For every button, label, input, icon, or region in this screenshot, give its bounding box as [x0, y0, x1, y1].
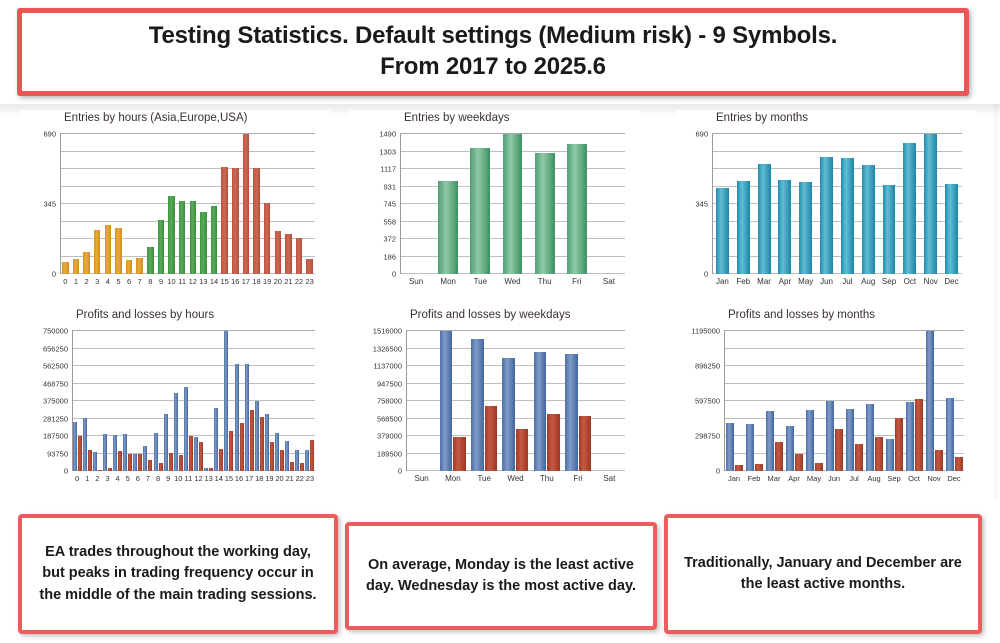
x-tick-label: Thu: [529, 277, 561, 286]
bar-group: [500, 331, 531, 471]
bar-group: [113, 331, 123, 471]
x-axis-labels: SunMonTueWedThuFriSat: [406, 474, 625, 483]
x-tick-label: May: [795, 277, 816, 286]
bar-profit: [806, 410, 814, 471]
bar: [296, 238, 303, 274]
x-tick-label: 2: [81, 277, 92, 286]
bar-group: [858, 134, 879, 274]
bar-loss: [915, 399, 923, 471]
bars: [72, 331, 315, 471]
bar: [73, 259, 80, 274]
bar-group: [562, 331, 593, 471]
x-tick-label: 10: [166, 277, 177, 286]
bar-loss: [199, 442, 203, 471]
bar-group: [194, 331, 204, 471]
bar: [438, 181, 458, 274]
bar-group: [764, 331, 784, 471]
bar-group: [124, 134, 135, 274]
y-tick-label: 750000: [43, 327, 68, 336]
x-tick-label: Jul: [837, 277, 858, 286]
bar-profit: [113, 435, 117, 471]
bar: [820, 157, 833, 274]
x-tick-label: 13: [204, 474, 214, 483]
chart-entries-by-hours: Entries by hours (Asia,Europe,USA)034569…: [20, 110, 330, 300]
y-tick-label: 558: [383, 217, 396, 226]
bar: [862, 165, 875, 274]
bar-group: [81, 134, 92, 274]
chart-entries-by-months: Entries by months0345690JanFebMarAprMayJ…: [676, 110, 976, 300]
y-tick-label: 597500: [695, 397, 720, 406]
y-tick-label: 93750: [47, 449, 68, 458]
x-tick-label: Nov: [920, 277, 941, 286]
bars: [400, 134, 625, 274]
x-tick-label: 20: [273, 277, 284, 286]
bar-profit: [534, 352, 547, 471]
bar-loss: [300, 463, 304, 471]
y-tick-label: 947500: [377, 379, 402, 388]
callout-box-months: Traditionally, January and December are …: [664, 514, 982, 634]
bar-profit: [265, 414, 269, 471]
x-tick-label: 17: [244, 474, 254, 483]
bar-loss: [280, 450, 284, 471]
x-tick-label: 16: [234, 474, 244, 483]
bar-group: [72, 331, 82, 471]
bar: [924, 134, 937, 274]
bar-profit: [906, 402, 914, 471]
bar-loss: [118, 451, 122, 471]
bar-profit: [565, 354, 578, 471]
bar-group: [71, 134, 82, 274]
bar-loss: [290, 462, 294, 471]
bar-profit: [194, 437, 198, 471]
x-tick-label: 10: [173, 474, 183, 483]
y-tick-label: 1490: [379, 130, 396, 139]
bar-profit: [245, 364, 249, 471]
bar: [275, 231, 282, 274]
plot-area: [724, 331, 964, 471]
chart-profits-losses-by-weekdays: Profits and losses by weekdays0189500379…: [350, 307, 640, 497]
x-tick-label: Dec: [944, 474, 964, 483]
bar: [190, 201, 197, 274]
x-tick-label: Feb: [733, 277, 754, 286]
x-tick-label: 22: [295, 474, 305, 483]
y-axis-line: [72, 331, 73, 471]
y-axis-labels: 02987505975008962501195000: [664, 331, 720, 471]
bar-loss: [485, 406, 498, 471]
bar: [115, 228, 122, 274]
x-tick-label: Oct: [899, 277, 920, 286]
bar-loss: [98, 470, 102, 471]
bar-group: [924, 331, 944, 471]
y-tick-label: 1137000: [373, 362, 402, 371]
bar-profit: [746, 424, 754, 471]
x-tick-label: 20: [275, 474, 285, 483]
x-tick-label: Apr: [784, 474, 804, 483]
x-tick-label: 18: [251, 277, 262, 286]
bar-group: [464, 134, 496, 274]
bar-loss: [260, 417, 264, 471]
x-tick-label: Mon: [437, 474, 468, 483]
bar-loss: [875, 437, 883, 471]
bar-profit: [133, 454, 137, 471]
x-tick-label: Feb: [744, 474, 764, 483]
bar: [470, 148, 490, 274]
bar: [243, 134, 250, 274]
y-tick-label: 896250: [695, 362, 720, 371]
bar-group: [163, 331, 173, 471]
y-tick-label: 298750: [695, 432, 720, 441]
x-tick-label: 11: [177, 277, 188, 286]
y-axis-labels: 0345690: [20, 134, 56, 274]
bar-profit: [305, 450, 309, 471]
x-tick-label: Mar: [764, 474, 784, 483]
y-tick-label: 0: [398, 467, 402, 476]
bars: [60, 134, 315, 274]
x-tick-label: May: [804, 474, 824, 483]
bar-loss: [547, 414, 560, 471]
bar-group: [254, 331, 264, 471]
bar-group: [733, 134, 754, 274]
chart-title: Entries by hours (Asia,Europe,USA): [64, 112, 247, 124]
bar-group: [177, 134, 188, 274]
bar-group: [837, 134, 858, 274]
bar-group: [294, 134, 305, 274]
x-tick-label: 4: [103, 277, 114, 286]
callout-box-hours: EA trades throughout the working day, bu…: [18, 514, 338, 634]
bar: [200, 212, 207, 274]
bar-group: [884, 331, 904, 471]
callout-text: On average, Monday is the least active d…: [359, 555, 643, 597]
plot-area: [60, 134, 315, 274]
x-tick-label: Wed: [496, 277, 528, 286]
x-tick-label: Wed: [500, 474, 531, 483]
bar-loss: [78, 436, 82, 471]
bar: [94, 230, 101, 274]
y-axis-line: [400, 134, 401, 274]
bar-profit: [164, 414, 168, 471]
bar-loss: [955, 457, 963, 471]
bar-loss: [250, 410, 254, 471]
bar: [306, 259, 313, 274]
bar-loss: [229, 431, 233, 471]
bar: [758, 164, 771, 274]
x-tick-label: 0: [60, 277, 71, 286]
title-banner: Testing Statistics. Default settings (Me…: [17, 8, 969, 96]
bar-profit: [726, 423, 734, 471]
x-tick-label: 7: [134, 277, 145, 286]
bar-group: [143, 331, 153, 471]
bar: [567, 144, 587, 274]
y-tick-label: 186: [383, 252, 396, 261]
bar-profit: [285, 441, 289, 471]
x-axis-labels: JanFebMarAprMayJunJulAugSepOctNovDec: [724, 474, 964, 483]
x-tick-label: 15: [224, 474, 234, 483]
x-tick-label: Mar: [754, 277, 775, 286]
chart-profits-losses-by-hours: Profits and losses by hours0937501875002…: [20, 307, 330, 497]
bar-group: [244, 331, 254, 471]
x-tick-label: Tue: [464, 277, 496, 286]
bar: [147, 247, 154, 274]
bar-profit: [926, 331, 934, 471]
bar-loss: [270, 442, 274, 471]
bar-group: [251, 134, 262, 274]
y-axis-labels: 0937501875002812503750004687505625006562…: [20, 331, 68, 471]
bar-group: [816, 134, 837, 274]
bar-profit: [786, 426, 794, 471]
x-tick-label: 21: [285, 474, 295, 483]
bar-group: [134, 134, 145, 274]
bar: [883, 185, 896, 274]
bar: [737, 181, 750, 274]
x-tick-label: Fri: [561, 277, 593, 286]
callout-text: EA trades throughout the working day, bu…: [32, 542, 324, 605]
x-tick-label: 17: [241, 277, 252, 286]
bar-loss: [108, 468, 112, 471]
plot-area: [712, 134, 962, 274]
y-axis-labels: 0345690: [676, 134, 708, 274]
y-tick-label: 0: [64, 467, 68, 476]
x-tick-label: 19: [262, 277, 273, 286]
y-tick-label: 931: [383, 182, 396, 191]
x-tick-label: Jan: [724, 474, 744, 483]
bar-profit: [154, 433, 158, 471]
bar-group: [724, 331, 744, 471]
x-tick-label: 5: [113, 277, 124, 286]
bar-group: [173, 331, 183, 471]
bar-loss: [895, 418, 903, 471]
x-tick-label: Sat: [594, 474, 625, 483]
band-edge-shadow: [994, 104, 1000, 502]
x-tick-label: 23: [304, 277, 315, 286]
bar-loss: [209, 468, 213, 471]
bar-loss: [735, 465, 743, 471]
x-tick-label: Nov: [924, 474, 944, 483]
x-tick-label: Thu: [531, 474, 562, 483]
bar-group: [92, 134, 103, 274]
x-tick-label: 7: [143, 474, 153, 483]
x-tick-label: Jun: [816, 277, 837, 286]
bar-group: [103, 134, 114, 274]
bar-group: [166, 134, 177, 274]
bar: [136, 258, 143, 274]
callout-text: Traditionally, January and December are …: [678, 553, 968, 595]
bar-profit: [275, 433, 279, 471]
bar-group: [904, 331, 924, 471]
bar-loss: [219, 449, 223, 471]
bar-profit: [255, 401, 259, 471]
x-axis-labels: JanFebMarAprMayJunJulAugSepOctNovDec: [712, 277, 962, 286]
bar-loss: [835, 429, 843, 471]
bar-group: [198, 134, 209, 274]
bar-group: [469, 331, 500, 471]
bar-group: [113, 134, 124, 274]
bar-group: [82, 331, 92, 471]
bar-profit: [204, 468, 208, 471]
x-tick-label: 13: [198, 277, 209, 286]
x-axis-labels: SunMonTueWedThuFriSat: [400, 277, 625, 286]
bar-group: [561, 134, 593, 274]
bar-group: [262, 134, 273, 274]
x-tick-label: 1: [71, 277, 82, 286]
bar-group: [273, 134, 284, 274]
plot-area: [72, 331, 315, 471]
bar-group: [123, 331, 133, 471]
x-tick-label: Sun: [406, 474, 437, 483]
bar-profit: [174, 393, 178, 471]
bar-group: [712, 134, 733, 274]
bar-group: [804, 331, 824, 471]
x-tick-label: Sat: [593, 277, 625, 286]
bar: [221, 167, 228, 274]
bar-group: [529, 134, 561, 274]
bar-group: [824, 331, 844, 471]
bar-profit: [143, 446, 147, 471]
x-tick-label: 12: [194, 474, 204, 483]
bar-profit: [826, 401, 834, 471]
y-tick-label: 375000: [43, 397, 68, 406]
bar-group: [795, 134, 816, 274]
y-tick-label: 1516000: [373, 327, 402, 336]
bar: [841, 158, 854, 274]
y-tick-label: 690: [43, 130, 56, 139]
plot-area: [406, 331, 625, 471]
bar-loss: [310, 440, 314, 471]
bar-group: [102, 331, 112, 471]
x-tick-label: 1: [82, 474, 92, 483]
bar: [83, 252, 90, 274]
x-tick-label: 15: [219, 277, 230, 286]
bar: [799, 182, 812, 274]
x-tick-label: 18: [254, 474, 264, 483]
bar: [105, 225, 112, 274]
x-tick-label: Sep: [879, 277, 900, 286]
bar-profit: [866, 404, 874, 471]
bar-group: [879, 134, 900, 274]
x-tick-label: 0: [72, 474, 82, 483]
bar-group: [264, 331, 274, 471]
x-tick-label: Sun: [400, 277, 432, 286]
bar-group: [230, 134, 241, 274]
y-tick-label: 189500: [377, 449, 402, 458]
bar-group: [204, 331, 214, 471]
x-tick-label: 6: [124, 277, 135, 286]
bar: [168, 196, 175, 274]
bars: [406, 331, 625, 471]
x-tick-label: Jun: [824, 474, 844, 483]
bar: [126, 260, 133, 274]
x-tick-label: Tue: [469, 474, 500, 483]
bar-loss: [169, 453, 173, 471]
bar-loss: [815, 463, 823, 471]
y-tick-label: 379000: [377, 432, 402, 441]
chart-title: Entries by months: [716, 112, 808, 124]
callout-box-weekdays: On average, Monday is the least active d…: [345, 522, 657, 630]
bars: [724, 331, 964, 471]
x-tick-label: Apr: [774, 277, 795, 286]
y-axis-line: [406, 331, 407, 471]
bar: [945, 184, 958, 274]
bar-loss: [755, 464, 763, 471]
bar-group: [496, 134, 528, 274]
bar-loss: [189, 436, 193, 471]
x-tick-label: 6: [133, 474, 143, 483]
x-tick-label: 8: [145, 277, 156, 286]
x-tick-label: 19: [264, 474, 274, 483]
y-tick-label: 0: [704, 270, 708, 279]
bar: [285, 234, 292, 274]
x-tick-label: Sep: [884, 474, 904, 483]
chart-title: Profits and losses by months: [728, 309, 875, 321]
bar-profit: [295, 450, 299, 471]
x-tick-label: 16: [230, 277, 241, 286]
y-axis-labels: 0186372558745931111713031490: [350, 134, 396, 274]
y-tick-label: 0: [392, 270, 396, 279]
bar-group: [214, 331, 224, 471]
y-tick-label: 281250: [43, 414, 68, 423]
bar-profit: [184, 387, 188, 471]
x-tick-label: 12: [188, 277, 199, 286]
page-title-line2: From 2017 to 2025.6: [380, 53, 606, 80]
bar-profit: [224, 331, 228, 471]
bars: [712, 134, 962, 274]
bar-group: [744, 331, 764, 471]
bar-loss: [935, 450, 943, 471]
bar-loss: [775, 442, 783, 471]
bar-group: [754, 134, 775, 274]
x-tick-label: 22: [294, 277, 305, 286]
bar-profit: [103, 434, 107, 471]
bar-group: [944, 331, 964, 471]
y-tick-label: 745: [383, 200, 396, 209]
callouts-region: EA trades throughout the working day, bu…: [0, 500, 1000, 643]
bar-loss: [240, 423, 244, 471]
x-tick-label: Fri: [562, 474, 593, 483]
y-tick-label: 568500: [377, 414, 402, 423]
bar: [62, 262, 69, 274]
y-tick-label: 1326500: [373, 344, 402, 353]
bar-loss: [159, 463, 163, 471]
bar: [535, 153, 555, 274]
bar-profit: [766, 411, 774, 471]
bar-group: [864, 331, 884, 471]
y-axis-line: [60, 134, 61, 274]
bar-profit: [846, 409, 854, 471]
chart-title: Profits and losses by weekdays: [410, 309, 570, 321]
x-tick-label: 11: [183, 474, 193, 483]
x-axis-labels: 01234567891011121314151617181920212223: [60, 277, 315, 286]
bar: [253, 168, 260, 274]
bar-group: [156, 134, 167, 274]
bar-group: [224, 331, 234, 471]
bar-profit: [502, 358, 515, 471]
charts-region: Entries by hours (Asia,Europe,USA)034569…: [0, 104, 1000, 502]
bar-loss: [453, 437, 466, 471]
chart-title: Entries by weekdays: [404, 112, 509, 124]
chart-title: Profits and losses by hours: [76, 309, 214, 321]
bar-group: [784, 331, 804, 471]
y-tick-label: 656250: [43, 344, 68, 353]
bar-loss: [795, 454, 803, 471]
bar-group: [774, 134, 795, 274]
bar-group: [305, 331, 315, 471]
bar: [903, 143, 916, 274]
y-axis-line: [712, 134, 713, 274]
bar-loss: [88, 450, 92, 471]
bar-profit: [235, 364, 239, 471]
bar-group: [304, 134, 315, 274]
bar-profit: [471, 339, 484, 471]
y-tick-label: 372: [383, 235, 396, 244]
